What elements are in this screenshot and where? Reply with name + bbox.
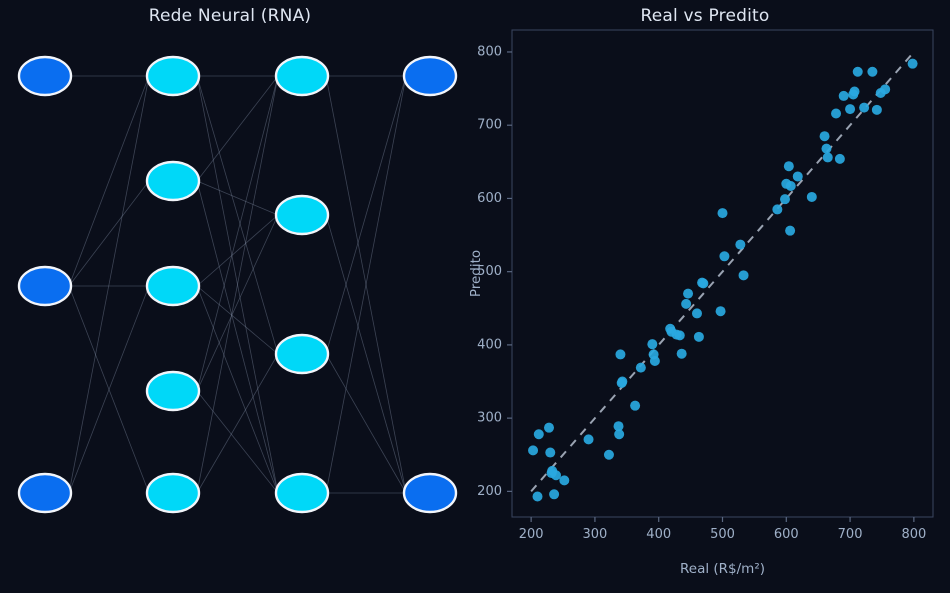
- scatter-point: [823, 152, 833, 162]
- y-ticklabel: 800: [477, 44, 502, 59]
- scatter-point: [867, 67, 877, 77]
- y-axis-label: Predito: [468, 250, 484, 297]
- network-node-input[interactable]: [19, 57, 71, 95]
- x-ticklabel: 600: [774, 527, 799, 542]
- neural-network-panel: Rede Neural (RNA): [0, 0, 460, 593]
- network-node-input[interactable]: [19, 267, 71, 305]
- scatter-point: [636, 363, 646, 373]
- scatter-point: [533, 491, 543, 501]
- network-node-hidden1[interactable]: [147, 372, 199, 410]
- network-diagram: [0, 0, 460, 593]
- network-node-hidden2[interactable]: [276, 474, 328, 512]
- scatter-point: [698, 278, 708, 288]
- scatter-point: [859, 103, 869, 113]
- scatter-point: [807, 192, 817, 202]
- x-ticklabel: 200: [519, 527, 544, 542]
- network-edge: [326, 215, 406, 493]
- x-ticklabel: 400: [646, 527, 671, 542]
- reference-line: [531, 52, 914, 491]
- network-edge: [69, 76, 149, 493]
- y-ticklabel: 200: [477, 484, 502, 499]
- scatter-point: [614, 429, 624, 439]
- scatter-point: [617, 377, 627, 387]
- y-ticklabel: 400: [477, 337, 502, 352]
- network-node-hidden1[interactable]: [147, 57, 199, 95]
- network-edge: [197, 181, 278, 215]
- network-node-hidden2[interactable]: [276, 335, 328, 373]
- y-ticklabel: 600: [477, 191, 502, 206]
- y-ticklabel: 700: [477, 118, 502, 133]
- scatter-point: [545, 448, 555, 458]
- scatter-point: [820, 131, 830, 141]
- network-edge: [197, 215, 278, 286]
- scatter-point: [772, 204, 782, 214]
- x-ticklabel: 800: [901, 527, 926, 542]
- network-edge: [197, 215, 278, 391]
- scatter-chart: 2003004005006007008002003004005006007008…: [460, 0, 950, 593]
- scatter-point: [839, 91, 849, 101]
- network-node-hidden1[interactable]: [147, 267, 199, 305]
- figure-root: Rede Neural (RNA) Real vs Predito 200300…: [0, 0, 950, 593]
- scatter-point: [534, 429, 544, 439]
- network-edge: [326, 354, 406, 493]
- network-node-output[interactable]: [404, 57, 456, 95]
- scatter-point: [735, 240, 745, 250]
- network-node-input[interactable]: [19, 474, 71, 512]
- network-node-output[interactable]: [404, 474, 456, 512]
- scatter-point: [718, 208, 728, 218]
- scatter-point: [584, 434, 594, 444]
- network-edge: [69, 181, 149, 286]
- scatter-point: [835, 154, 845, 164]
- network-node-hidden1[interactable]: [147, 162, 199, 200]
- scatter-point: [604, 450, 614, 460]
- scatter-panel: Real vs Predito 200300400500600700800200…: [460, 0, 950, 593]
- scatter-point: [528, 445, 538, 455]
- scatter-point: [650, 356, 660, 366]
- scatter-point: [675, 330, 685, 340]
- scatter-point: [831, 108, 841, 118]
- scatter-point: [683, 289, 693, 299]
- scatter-point: [784, 161, 794, 171]
- x-ticklabel: 500: [710, 527, 735, 542]
- y-ticklabel: 300: [477, 411, 502, 426]
- x-axis-label: Real (R$/m²): [680, 561, 765, 577]
- network-edge: [197, 181, 278, 493]
- scatter-point: [872, 105, 882, 115]
- scatter-point: [544, 423, 554, 433]
- identity-reference-line: [531, 52, 914, 491]
- scatter-point: [551, 470, 561, 480]
- scatter-point: [785, 226, 795, 236]
- network-node-hidden1[interactable]: [147, 474, 199, 512]
- network-edge: [197, 286, 278, 493]
- network-edge: [197, 354, 278, 493]
- x-ticklabel: 700: [838, 527, 863, 542]
- scatter-point: [647, 339, 657, 349]
- x-ticklabel: 300: [583, 527, 608, 542]
- axes-ticks: 2003004005006007008002003004005006007008…: [477, 44, 926, 542]
- scatter-point: [880, 84, 890, 94]
- scatter-point: [853, 67, 863, 77]
- scatter-point: [845, 104, 855, 114]
- scatter-point: [692, 308, 702, 318]
- network-edge: [326, 76, 406, 354]
- network-edge: [69, 76, 149, 286]
- scatter-point: [559, 475, 569, 485]
- scatter-point: [615, 349, 625, 359]
- network-node-hidden2[interactable]: [276, 196, 328, 234]
- network-edges-group: [69, 76, 406, 493]
- scatter-point: [793, 171, 803, 181]
- network-edge: [197, 391, 278, 493]
- scatter-point: [694, 332, 704, 342]
- scatter-point: [739, 270, 749, 280]
- network-node-hidden2[interactable]: [276, 57, 328, 95]
- scatter-point: [821, 144, 831, 154]
- scatter-point: [850, 87, 860, 97]
- scatter-point: [549, 489, 559, 499]
- scatter-point: [786, 181, 796, 191]
- scatter-point: [681, 299, 691, 309]
- scatter-point: [719, 251, 729, 261]
- scatter-point: [780, 194, 790, 204]
- scatter-point: [908, 59, 918, 69]
- scatter-point: [716, 306, 726, 316]
- scatter-points-group: [528, 59, 918, 502]
- scatter-point: [677, 349, 687, 359]
- network-edge: [197, 76, 278, 354]
- network-edge: [197, 76, 278, 181]
- scatter-point: [630, 401, 640, 411]
